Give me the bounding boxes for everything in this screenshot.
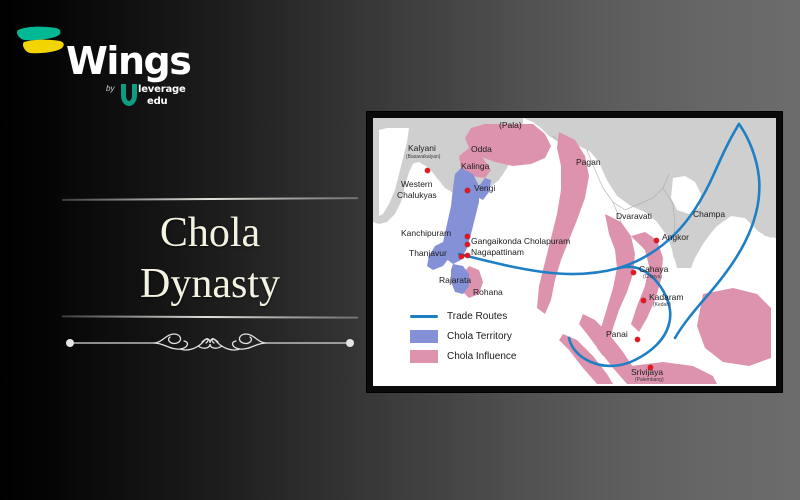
chola-dynasty-map[interactable]: (Pala) Kalyani (Basavakalyan) Odda Kalin… <box>373 118 776 386</box>
partner-brand-line1: leverage <box>138 84 186 96</box>
map-label-rohana: Rohana <box>473 288 503 297</box>
map-label-nagapattinam: Nagapattinam <box>471 248 524 257</box>
city-dot-vengi <box>465 188 470 193</box>
page-title-line1: Chola <box>62 208 358 259</box>
map-label-thanjavur: Thanjavur <box>409 249 447 258</box>
city-dot-panai <box>635 337 640 342</box>
map-sublabel-palembang: (Palembang) <box>635 378 664 384</box>
title-rule-bottom <box>62 316 358 319</box>
page-title: Chola Dynasty <box>62 200 358 316</box>
map-sublabel-basavakalyan: (Basavakalyan) <box>406 155 440 161</box>
map-label-gangaikonda-cholapuram: Gangaikonda Cholapuram <box>471 237 570 246</box>
brand-logo: Wings by leverage edu <box>14 20 184 110</box>
legend-item-chola-influence[interactable]: Chola Influence <box>410 348 570 364</box>
legend-swatch-trade-routes <box>410 310 438 323</box>
map-label-western: Western <box>401 180 433 189</box>
map-sublabel-kedah: (Kedah) <box>653 303 671 309</box>
legend-item-chola-territory[interactable]: Chola Territory <box>410 328 570 344</box>
map-label-cahaya: Cahaya <box>639 265 668 274</box>
map-label-kalinga: Kalinga <box>461 162 489 171</box>
map-label-chalukyas: Chalukyas <box>397 191 437 200</box>
city-dot-angkor <box>654 238 659 243</box>
city-dot-kanchipuram <box>465 234 470 239</box>
map-label-dvaravati: Dvaravati <box>616 212 652 221</box>
map-label-kadaram: Kadaram <box>649 293 684 302</box>
legend-label-trade-routes: Trade Routes <box>447 311 507 322</box>
brand-by-label: by <box>106 84 114 93</box>
wings-bird-icon <box>16 24 68 62</box>
map-label-srivijaya: Srivijaya <box>631 368 663 377</box>
ornamental-divider <box>62 326 358 360</box>
city-dot-kadaram <box>641 298 646 303</box>
map-label-vengi: Vengi <box>474 184 495 193</box>
map-label-pala: (Pala) <box>499 121 522 130</box>
brand-name: Wings <box>66 42 190 80</box>
leverage-v-icon <box>118 82 140 108</box>
map-label-champa: Champa <box>693 210 725 219</box>
legend-swatch-chola-influence <box>410 350 438 363</box>
title-block: Chola Dynasty <box>62 198 358 318</box>
partner-brand-name: leverage edu <box>138 84 186 107</box>
city-dot-cahaya <box>631 270 636 275</box>
partner-brand-line2: edu <box>138 96 186 108</box>
page-title-line2: Dynasty <box>62 259 358 310</box>
map-label-panai: Panai <box>606 330 628 339</box>
map-label-rajarata: Rajarata <box>439 276 471 285</box>
map-sublabel-chaiya: (Chaiya) <box>643 275 662 281</box>
map-label-pagan: Pagan <box>576 158 601 167</box>
legend-label-chola-territory: Chola Territory <box>447 331 512 342</box>
map-legend: Trade Routes Chola Territory Chola Influ… <box>410 308 570 368</box>
city-dot-gangaikonda-cholapuram <box>465 242 470 247</box>
city-dot-kalyani <box>425 168 430 173</box>
legend-item-trade-routes[interactable]: Trade Routes <box>410 308 570 324</box>
city-dot-nagapattinam <box>465 253 470 258</box>
map-label-odda: Odda <box>471 145 492 154</box>
map-label-angkor: Angkor <box>662 233 689 242</box>
city-dot-thanjavur <box>459 254 464 259</box>
map-label-kalyani: Kalyani <box>408 144 436 153</box>
legend-label-chola-influence: Chola Influence <box>447 351 517 362</box>
map-frame: (Pala) Kalyani (Basavakalyan) Odda Kalin… <box>367 112 782 392</box>
map-label-kanchipuram: Kanchipuram <box>401 229 451 238</box>
legend-swatch-chola-territory <box>410 330 438 343</box>
